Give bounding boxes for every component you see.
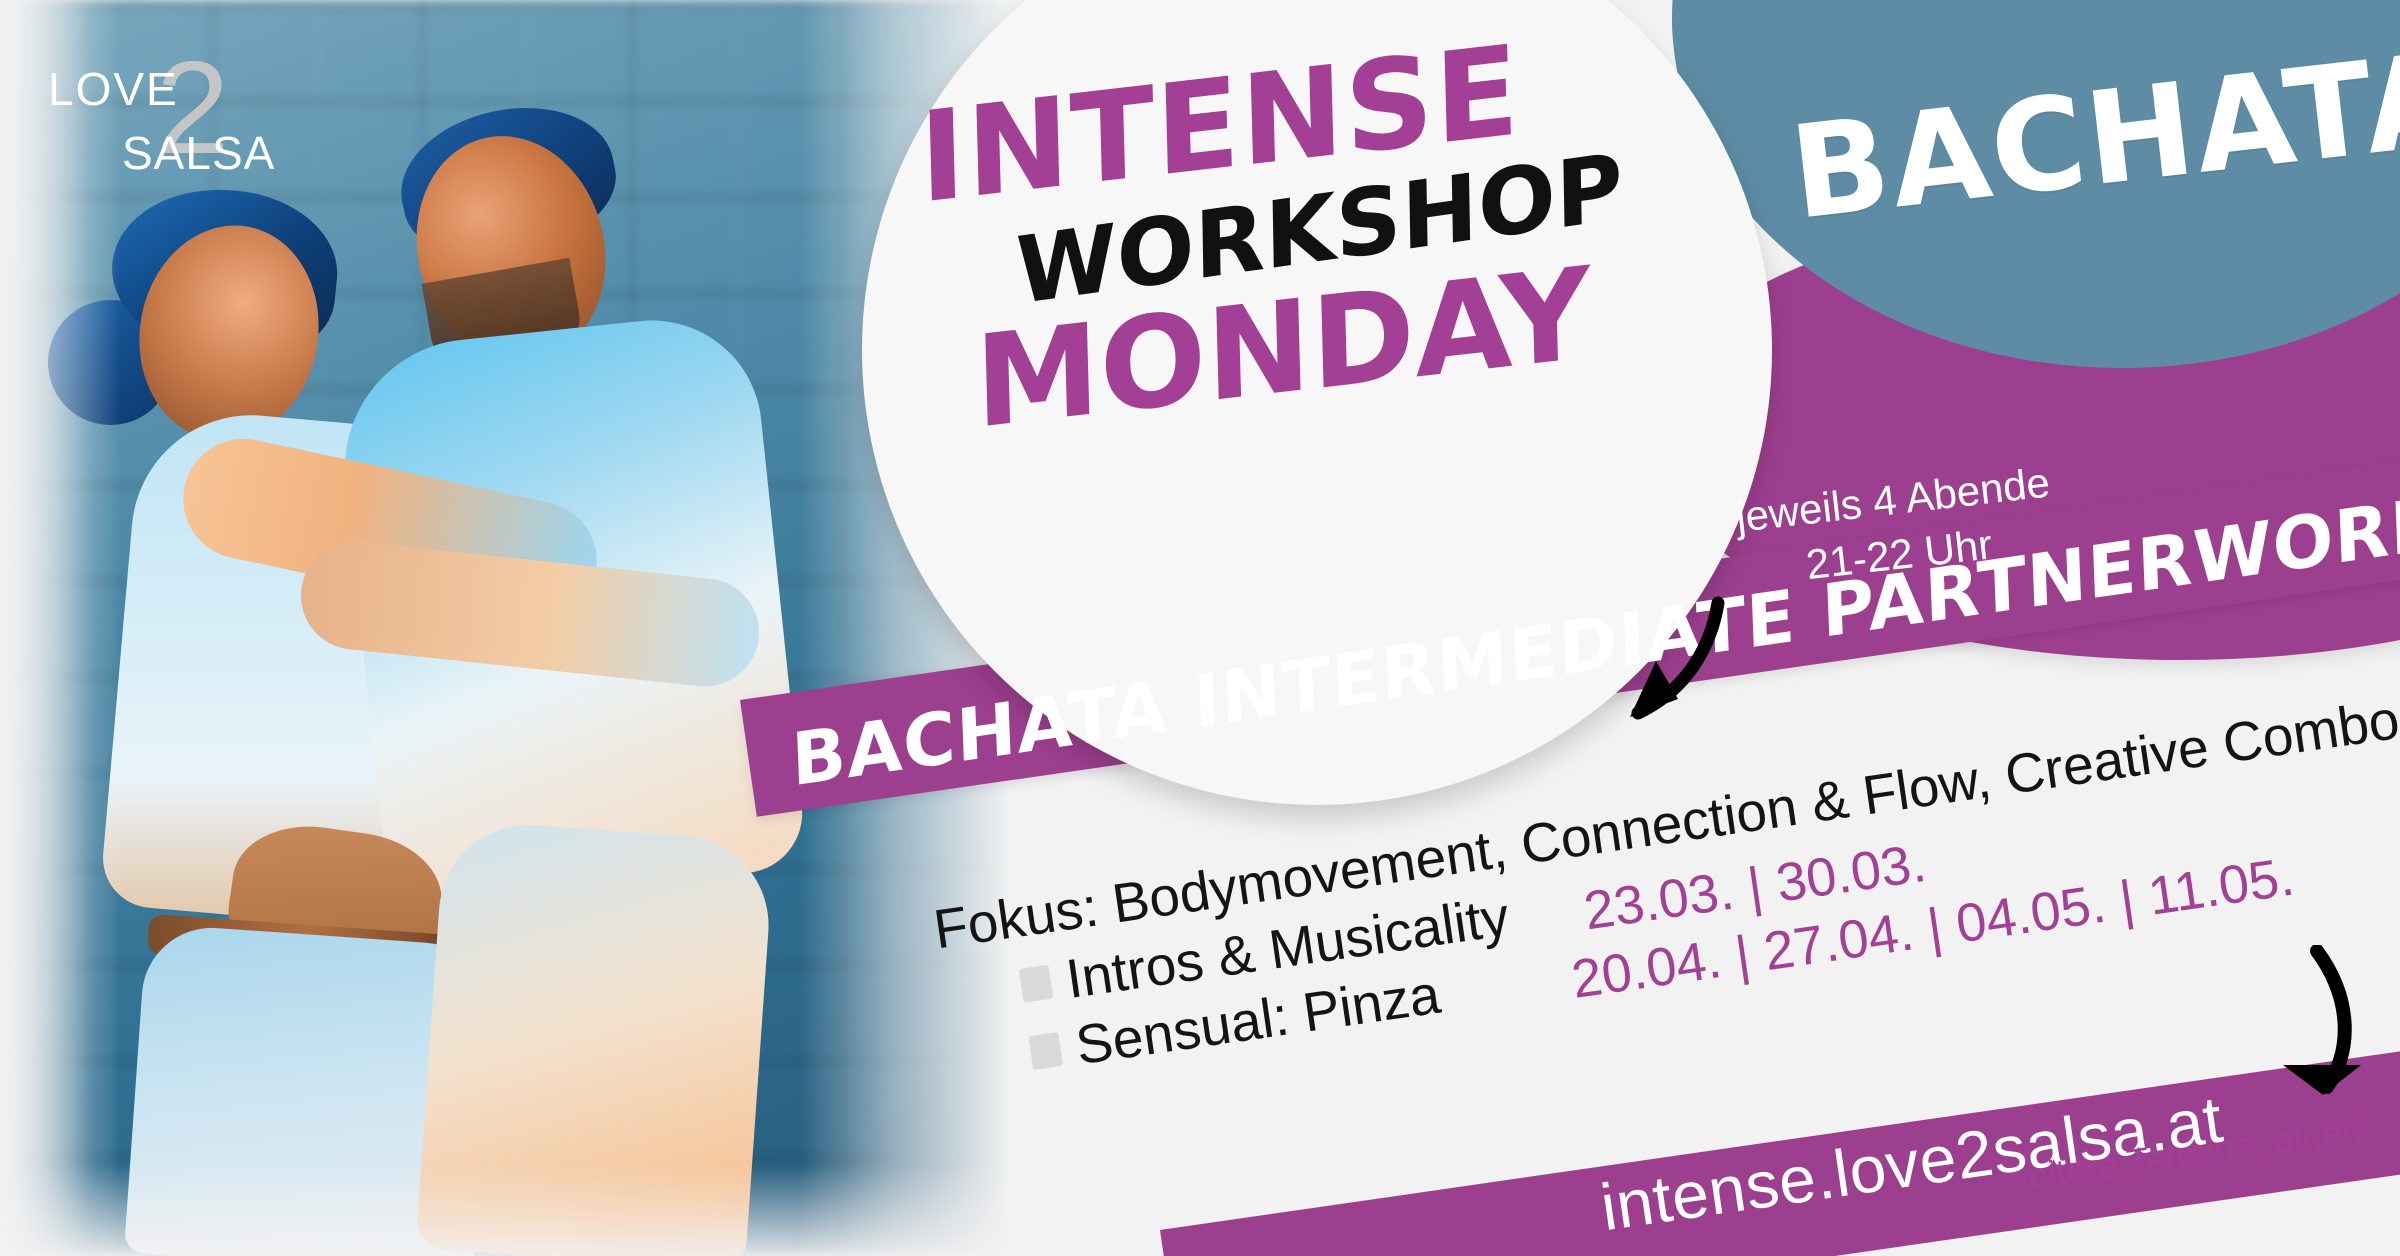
bullet-square-icon	[1019, 965, 1054, 1003]
bullet-square-icon	[1028, 1032, 1063, 1070]
curved-arrow-down-icon	[2265, 945, 2395, 1140]
logo-word-salsa: SALSA	[122, 126, 275, 180]
dancer-photo	[0, 0, 1010, 1256]
love2salsa-logo[interactable]: 2 LOVE SALSA	[48, 48, 338, 178]
promo-poster: 2 LOVE SALSA BACHATA jeweils 4 Abende 21…	[0, 0, 2400, 1256]
photo-left-fade	[0, 0, 120, 1256]
logo-word-love: LOVE	[48, 62, 179, 116]
curved-arrow-down-left-icon	[1560, 595, 1730, 770]
